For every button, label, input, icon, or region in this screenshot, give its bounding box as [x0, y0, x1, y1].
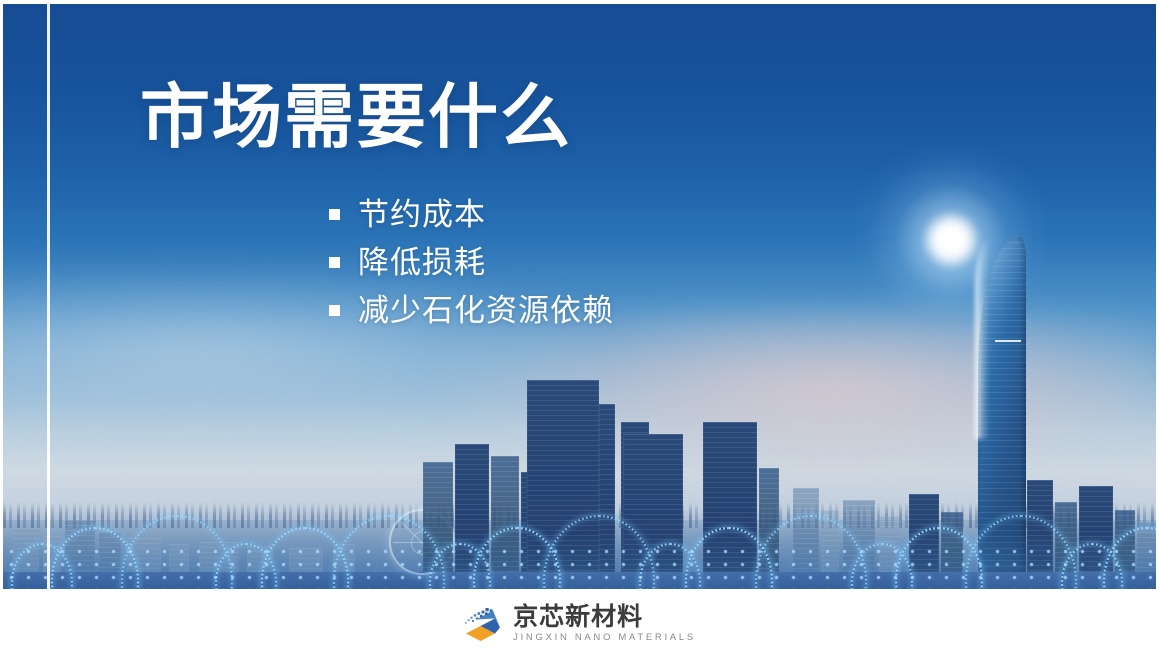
logo-text-block: 京芯新材料 JINGXIN NANO MATERIALS [513, 605, 696, 643]
bullet-label: 减少石化资源依赖 [358, 295, 614, 326]
list-item: 降低损耗 [329, 238, 614, 286]
square-bullet-icon [329, 209, 340, 220]
tower-sky-band [995, 340, 1021, 342]
square-bullet-icon [329, 257, 340, 268]
slide-footer: 京芯新材料 JINGXIN NANO MATERIALS [0, 589, 1159, 659]
company-logo: 京芯新材料 JINGXIN NANO MATERIALS [463, 605, 696, 643]
bullet-label: 降低损耗 [358, 247, 486, 278]
list-item: 节约成本 [329, 190, 614, 238]
list-item: 减少石化资源依赖 [329, 286, 614, 334]
jingxin-pixel-parallelogram-logo-icon [463, 606, 503, 642]
slide-title: 市场需要什么 [140, 78, 572, 156]
square-bullet-icon [329, 305, 340, 316]
logo-name-cn: 京芯新材料 [513, 605, 696, 630]
logo-name-en: JINGXIN NANO MATERIALS [513, 633, 696, 643]
left-accent-rule [47, 4, 50, 589]
bullet-list: 节约成本 降低损耗 减少石化资源依赖 [329, 190, 614, 334]
dot-network-overlay [3, 479, 1156, 589]
bullet-label: 节约成本 [358, 199, 486, 230]
sun-flare-core [924, 213, 978, 267]
presentation-slide: 市场需要什么 节约成本 降低损耗 减少石化资源依赖 [0, 0, 1159, 659]
